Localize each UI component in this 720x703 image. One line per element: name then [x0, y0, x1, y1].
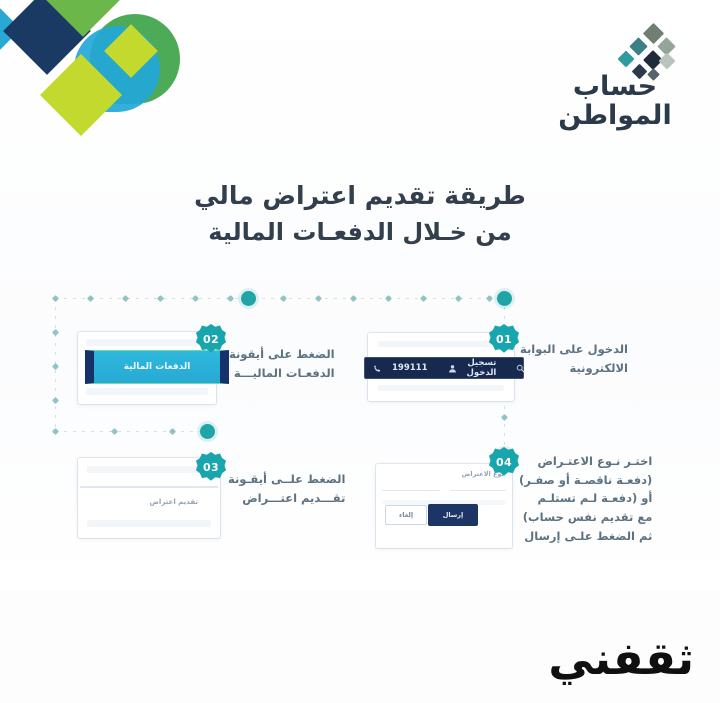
- mock-field-line: [450, 490, 506, 491]
- step-number-03: 03: [203, 461, 219, 474]
- step-04-cancel-label[interactable]: إلغاء: [399, 511, 413, 519]
- step-badge-04: 04: [489, 447, 519, 477]
- step-01-topbar[interactable]: تسجيل الدخول 199111: [364, 357, 524, 379]
- step-number-01: 01: [496, 333, 512, 346]
- connector-node-step03: [200, 424, 215, 439]
- mock-field-line: [382, 490, 440, 491]
- step-03-text-block: الضغط علــى أيقـونة تقـــديم اعتـــراض: [228, 470, 345, 507]
- step-03-description: الضغط علــى أيقـونة تقـــديم اعتـــراض: [228, 470, 345, 507]
- mock-placeholder-bar: [378, 341, 504, 347]
- page-title-line1: طريقة تقديم اعتراض مالي: [0, 178, 720, 215]
- mock-placeholder-bar: [87, 520, 211, 527]
- step-01-phone-label: 199111: [392, 363, 428, 373]
- brand-name-line1: حساب: [534, 72, 696, 101]
- watermark: ثقفني: [548, 636, 694, 681]
- step-04-submit-label[interactable]: إرسال: [443, 511, 463, 519]
- step-01-login-label[interactable]: تسجيل الدخول: [467, 358, 497, 378]
- step-02-button-label[interactable]: الدفعات المالية: [124, 362, 191, 372]
- step-03-line1: الضغط علــى أيقـونة: [228, 470, 345, 489]
- step-number-04: 04: [496, 456, 512, 469]
- step-01-text-block: الدخول على البوابة الالكترونية: [520, 340, 628, 377]
- step-number-02: 02: [203, 333, 219, 346]
- step-03-line2: تقـــديم اعتـــراض: [228, 489, 345, 508]
- step-02-line1: الضغط على أيقونة: [229, 345, 335, 364]
- step-01-description: الدخول على البوابة الالكترونية: [520, 340, 628, 377]
- mock-placeholder-bar: [86, 339, 208, 346]
- connector-node-step02: [241, 291, 256, 306]
- step-04-description: اختـر نـوع الاعتـراض (دفعـة ناقصـة أو صف…: [519, 452, 652, 545]
- mock-divider: [80, 486, 218, 488]
- step-badge-02: 02: [196, 324, 226, 354]
- user-icon[interactable]: [448, 364, 457, 373]
- step-04-line5: ثم الضغط علـى إرسال: [519, 527, 652, 546]
- step-04-cancel-button[interactable]: إلغاء: [385, 505, 427, 525]
- step-03-row-label[interactable]: تقديم اعتراض: [150, 498, 198, 506]
- step-02-description: الضغط على أيقونة الدفعـات الماليـــة: [229, 345, 335, 382]
- step-02-text-block: الضغط على أيقونة الدفعـات الماليـــة: [229, 345, 335, 382]
- infographic-canvas: حساب المواطن طريقة تقديم اعتراض مالي من …: [0, 0, 720, 703]
- brand-name-line2: المواطن: [534, 101, 696, 130]
- step-04-submit-button[interactable]: إرسال: [428, 504, 478, 526]
- mock-placeholder-bar: [378, 385, 504, 391]
- step-01-line1: الدخول على البوابة: [520, 340, 628, 359]
- brand-logo: حساب المواطن: [530, 26, 700, 136]
- page-title-line2: من خـلال الدفعـات المالية: [0, 215, 720, 250]
- step-04-line3: أو (دفعـة لـم تستلـم: [519, 489, 652, 508]
- mock-placeholder-bar: [86, 388, 208, 395]
- step-badge-03: 03: [196, 452, 226, 482]
- step-04-line1: اختـر نـوع الاعتـراض: [519, 452, 652, 471]
- step-badge-01: 01: [489, 324, 519, 354]
- step-02-line2: الدفعـات الماليـــة: [229, 364, 335, 383]
- mock-placeholder-bar: [87, 466, 211, 473]
- decorative-diamond-pattern: [0, 0, 254, 198]
- phone-icon[interactable]: [373, 364, 382, 373]
- step-04-text-block: اختـر نـوع الاعتـراض (دفعـة ناقصـة أو صف…: [519, 452, 652, 545]
- step-01-line2: الالكترونية: [520, 359, 628, 378]
- step-04-line2: (دفعـة ناقصـة أو صفـر): [519, 471, 652, 490]
- brand-wordmark: حساب المواطن: [534, 72, 696, 130]
- connector-node-step01: [497, 291, 512, 306]
- page-title: طريقة تقديم اعتراض مالي من خـلال الدفعـا…: [0, 178, 720, 250]
- step-02-payments-button[interactable]: الدفعات المالية: [85, 350, 229, 384]
- step-04-line4: مع تقديم نفس حساب): [519, 508, 652, 527]
